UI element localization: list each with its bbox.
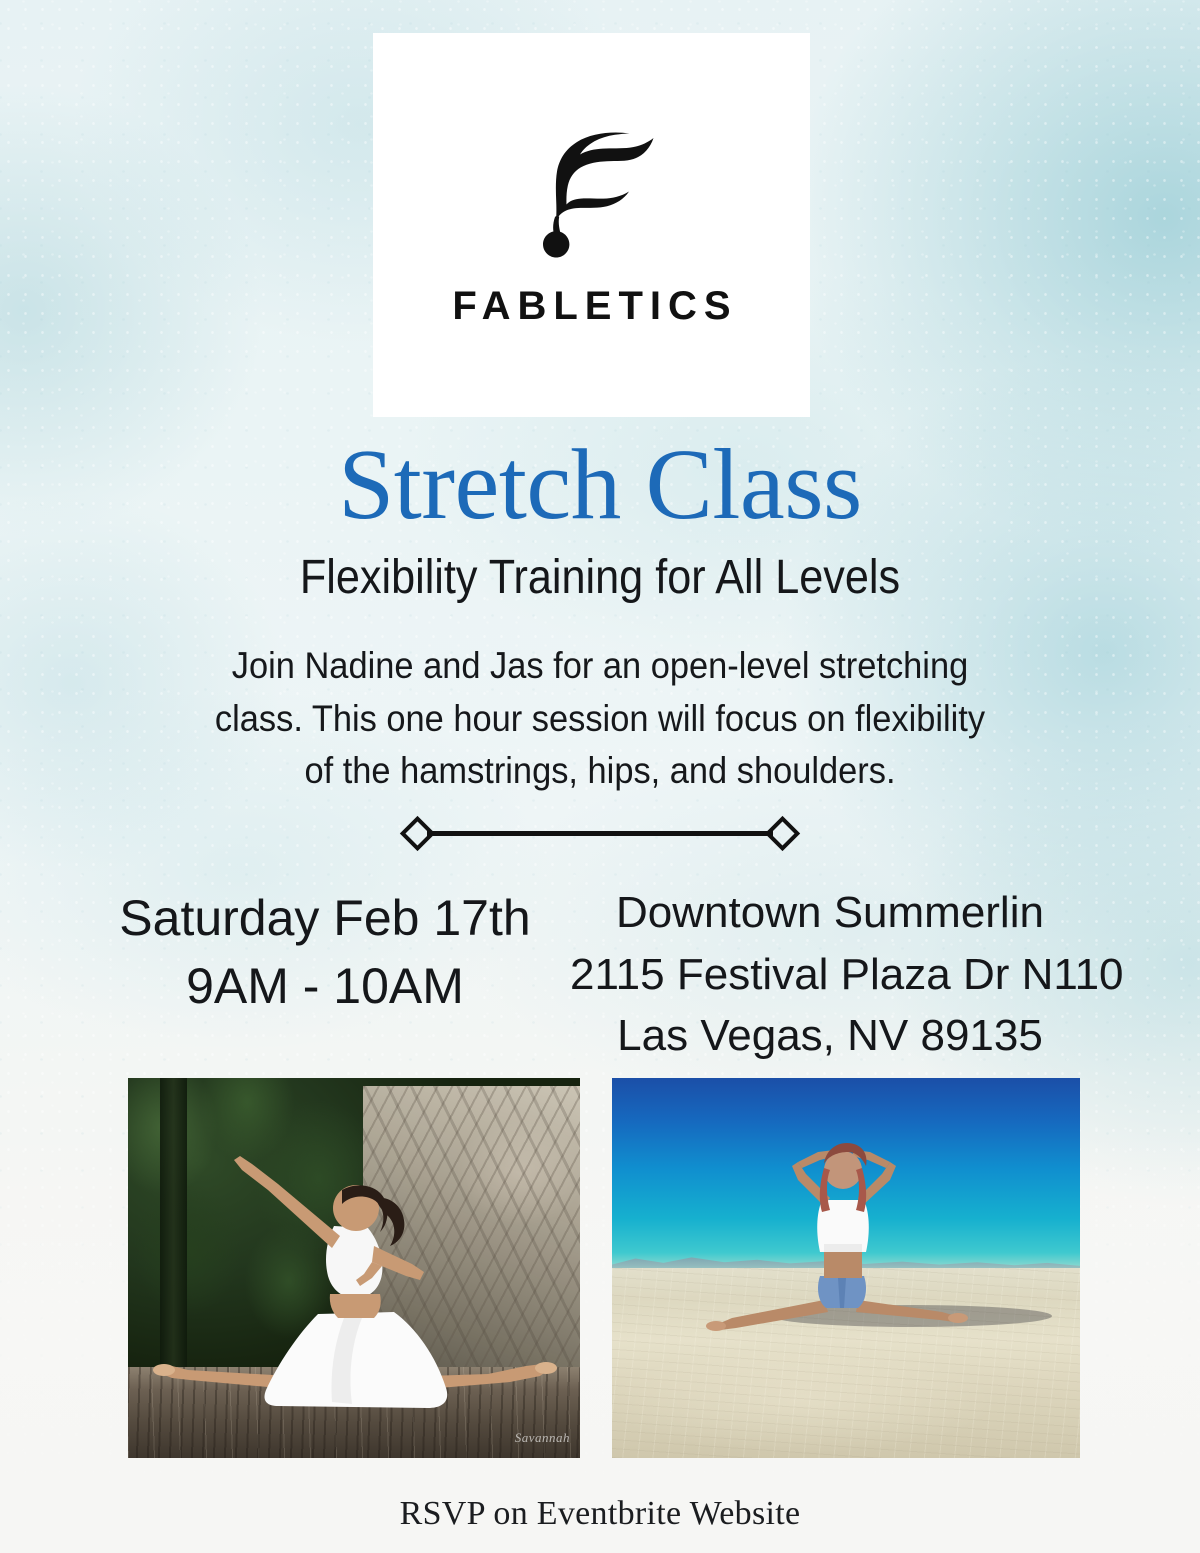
diamond-ornament-icon bbox=[765, 815, 800, 850]
event-time: 9AM - 10AM bbox=[110, 952, 540, 1020]
description-line-1: Join Nadine and Jas for an open-level st… bbox=[200, 640, 1000, 693]
dancer-on-log-photo: Savannah bbox=[128, 1078, 580, 1458]
dancer-figure-left bbox=[128, 1078, 580, 1458]
event-datetime-block: Saturday Feb 17th 9AM - 10AM bbox=[110, 882, 540, 1020]
venue-city-state-zip: Las Vegas, NV 89135 bbox=[570, 1005, 1090, 1067]
event-flyer: FABLETICS Stretch Class Flexibility Trai… bbox=[0, 0, 1200, 1553]
event-description: Join Nadine and Jas for an open-level st… bbox=[200, 640, 1000, 798]
page-subtitle: Flexibility Training for All Levels bbox=[60, 553, 1140, 603]
decorative-divider bbox=[405, 818, 795, 848]
event-details: Saturday Feb 17th 9AM - 10AM Downtown Su… bbox=[110, 882, 1090, 1067]
brand-wordmark: FABLETICS bbox=[445, 286, 737, 326]
rsvp-note: RSVP on Eventbrite Website bbox=[0, 1495, 1200, 1533]
description-line-2: class. This one hour session will focus … bbox=[200, 693, 1000, 746]
event-location-block: Downtown Summerlin 2115 Festival Plaza D… bbox=[570, 882, 1090, 1067]
divider-rule bbox=[427, 831, 773, 836]
photo-watermark: Savannah bbox=[515, 1430, 570, 1446]
venue-street: 2115 Festival Plaza Dr N110 bbox=[570, 944, 1090, 1006]
desert-splits-photo bbox=[612, 1078, 1080, 1458]
event-date: Saturday Feb 17th bbox=[110, 884, 540, 952]
fabletics-wing-f-icon bbox=[517, 125, 667, 260]
diamond-ornament-icon bbox=[400, 815, 435, 850]
page-title: Stretch Class bbox=[0, 432, 1200, 537]
description-line-3: of the hamstrings, hips, and shoulders. bbox=[200, 745, 1000, 798]
brand-logo-panel: FABLETICS bbox=[373, 33, 810, 417]
dancer-figure-right bbox=[612, 1078, 1080, 1458]
venue-name: Downtown Summerlin bbox=[570, 882, 1090, 944]
